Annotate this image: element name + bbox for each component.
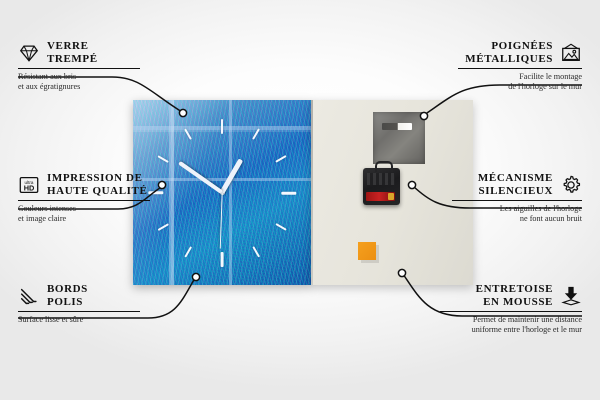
feature-divider	[452, 200, 582, 201]
feature-divider	[18, 311, 140, 312]
clock-tick	[184, 128, 192, 139]
diamond-icon	[18, 42, 40, 64]
quartz-movement-box	[363, 168, 400, 205]
feature-entretoise-en-mousse: ENTRETOISE EN MOUSSE Permet de maintenir…	[440, 283, 582, 335]
feature-sub-line1: Surface lisse et sûre	[18, 315, 140, 325]
feature-title-line1: POIGNÉES	[465, 40, 553, 53]
product-image	[133, 100, 473, 285]
clock-tick	[221, 252, 224, 267]
feature-header: VERRE TREMPÉ	[18, 40, 140, 65]
feature-divider	[18, 200, 150, 201]
pattern-line	[229, 100, 232, 285]
feature-sub-line1: Couleurs intenses	[18, 204, 150, 214]
clock-center-hub	[220, 190, 225, 195]
clock-front-face	[133, 100, 311, 285]
panel-seam	[311, 100, 313, 285]
hour-hand	[220, 158, 243, 193]
clock-back-face	[311, 100, 473, 285]
feature-title-line1: BORDS	[47, 283, 88, 296]
feature-sub-line2: ne font aucun bruit	[452, 214, 582, 224]
feature-title-line2: POLIS	[47, 296, 88, 309]
feature-sub-line1: Les aiguilles de l'horloge	[452, 204, 582, 214]
feature-sub-line1: Résistant aux bris	[18, 72, 140, 82]
battery-terminal	[388, 193, 394, 200]
feature-poignees-metalliques: POIGNÉES MÉTALLIQUES Facilite le montage…	[458, 40, 582, 92]
gear-icon	[560, 174, 582, 196]
feature-sub-line2: et image claire	[18, 214, 150, 224]
feature-title-line2: HAUTE QUALITÉ	[47, 185, 147, 198]
feature-title-line2: TREMPÉ	[47, 53, 98, 66]
feature-sub-line1: Facilite le montage	[458, 72, 582, 82]
foam-spacer-arrow-icon	[560, 285, 582, 307]
battery	[366, 192, 395, 201]
feature-title-line1: MÉCANISME	[478, 172, 553, 185]
feature-sub-line2: de l'horloge sur le mur	[458, 82, 582, 92]
feature-divider	[440, 311, 582, 312]
feature-header: MÉCANISME SILENCIEUX	[452, 172, 582, 197]
pattern-line	[133, 178, 311, 181]
feature-title-line1: ENTRETOISE	[476, 283, 553, 296]
feature-title-line2: SILENCIEUX	[478, 185, 553, 198]
feature-divider	[458, 68, 582, 69]
clock-tick	[275, 155, 286, 163]
foam-spacer-square	[358, 242, 376, 260]
feature-sub-line1: Permet de maintenir une distance	[440, 315, 582, 325]
clock-dial	[133, 100, 311, 285]
clock-tick	[157, 155, 168, 163]
feature-sub-line2: et aux égratignures	[18, 82, 140, 92]
ultra-hd-icon: ultra HD	[18, 174, 40, 196]
clock-tick	[148, 191, 163, 194]
hanger-loop-icon	[375, 161, 393, 172]
hanger-keyhole-slot	[382, 123, 412, 130]
feature-header: ultra HD IMPRESSION DE HAUTE QUALITÉ	[18, 172, 150, 197]
clock-tick	[157, 223, 168, 231]
minute-hand	[178, 161, 223, 194]
feature-bords-polis: BORDS POLIS Surface lisse et sûre	[18, 283, 140, 325]
feature-impression-haute-qualite: ultra HD IMPRESSION DE HAUTE QUALITÉ Cou…	[18, 172, 150, 224]
infographic-canvas: VERRE TREMPÉ Résistant aux bris et aux é…	[0, 0, 600, 400]
pattern-line	[133, 126, 311, 130]
clock-tick	[184, 246, 192, 257]
feature-header: ENTRETOISE EN MOUSSE	[440, 283, 582, 308]
polished-edges-icon	[18, 285, 40, 307]
feature-title-line2: MÉTALLIQUES	[465, 53, 553, 66]
svg-text:HD: HD	[24, 183, 35, 192]
clock-tick	[281, 191, 296, 194]
clock-tick	[252, 128, 260, 139]
movement-texture	[367, 173, 395, 185]
metal-hanger-plate	[373, 112, 425, 164]
feature-mecanisme-silencieux: MÉCANISME SILENCIEUX Les aiguilles de l'…	[452, 172, 582, 224]
clock-tick	[252, 246, 260, 257]
feature-header: POIGNÉES MÉTALLIQUES	[458, 40, 582, 65]
feature-verre-trempe: VERRE TREMPÉ Résistant aux bris et aux é…	[18, 40, 140, 92]
feature-divider	[18, 68, 140, 69]
feature-header: BORDS POLIS	[18, 283, 140, 308]
wall-hanger-frame-icon	[560, 42, 582, 64]
feature-sub-line2: uniforme entre l'horloge et le mur	[440, 325, 582, 335]
clock-tick	[221, 119, 224, 134]
pattern-line	[169, 100, 174, 285]
feature-title-line1: VERRE	[47, 40, 98, 53]
clock-tick	[275, 223, 286, 231]
second-hand	[219, 192, 222, 248]
feature-title-line1: IMPRESSION DE	[47, 172, 147, 185]
feature-title-line2: EN MOUSSE	[476, 296, 553, 309]
